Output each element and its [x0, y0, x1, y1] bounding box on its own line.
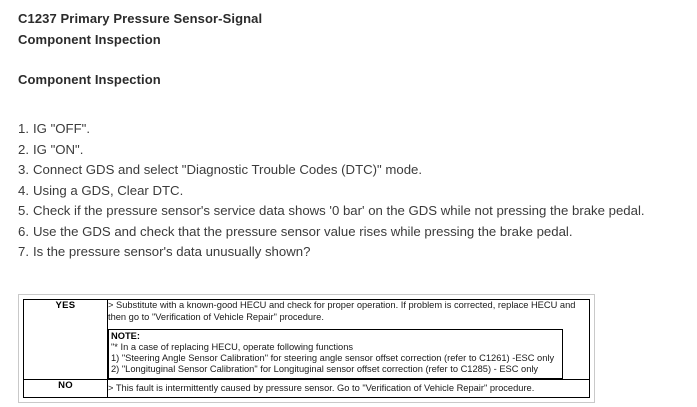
list-item-number: 4.	[18, 181, 33, 202]
list-item-number: 5.	[18, 201, 33, 222]
verdict-cell-no: NO	[24, 379, 108, 397]
list-item: 1.IG "OFF".	[0, 119, 697, 140]
action-line: > Substitute with a known-good HECU and …	[108, 300, 589, 312]
list-item-number: 2.	[18, 140, 33, 161]
action-line: then go to "Verification of Vehicle Repa…	[108, 312, 589, 324]
list-item-text: Connect GDS and select "Diagnostic Troub…	[33, 162, 422, 177]
list-item: 3.Connect GDS and select "Diagnostic Tro…	[0, 160, 697, 181]
list-item: 5.Check if the pressure sensor's service…	[0, 201, 697, 222]
list-item-text: Use the GDS and check that the pressure …	[33, 224, 573, 239]
verdict-cell-yes: YES	[24, 300, 108, 380]
list-item-text: Check if the pressure sensor's service d…	[33, 203, 645, 218]
list-item: 2.IG "ON".	[0, 140, 697, 161]
note-line: 2) "Longituginal Sensor Calibration" for…	[111, 364, 560, 375]
list-item: 6.Use the GDS and check that the pressur…	[0, 222, 697, 243]
list-item-number: 3.	[18, 160, 33, 181]
page-title-line-2: Component Inspection	[18, 29, 697, 50]
action-cell-yes: > Substitute with a known-good HECU and …	[108, 300, 590, 380]
list-item-number: 1.	[18, 119, 33, 140]
action-cell-no: > This fault is intermittently caused by…	[108, 379, 590, 397]
list-item-number: 6.	[18, 222, 33, 243]
document-body: C1237 Primary Pressure Sensor-Signal Com…	[0, 0, 697, 263]
section-heading: Component Inspection	[18, 69, 697, 90]
list-item-text: IG "ON".	[33, 142, 83, 157]
table-row: YES > Substitute with a known-good HECU …	[24, 300, 590, 380]
document-header: C1237 Primary Pressure Sensor-Signal Com…	[0, 0, 697, 90]
list-item-text: Using a GDS, Clear DTC.	[33, 183, 183, 198]
note-title: NOTE:	[111, 331, 560, 342]
decision-table-frame: YES > Substitute with a known-good HECU …	[18, 294, 595, 403]
list-item: 4.Using a GDS, Clear DTC.	[0, 181, 697, 202]
list-item-number: 7.	[18, 242, 33, 263]
inspection-steps-list: 1.IG "OFF". 2.IG "ON". 3.Connect GDS and…	[0, 90, 697, 263]
list-item-text: Is the pressure sensor's data unusually …	[33, 244, 310, 259]
table-row: NO > This fault is intermittently caused…	[24, 379, 590, 397]
note-line: "* In a case of replacing HECU, operate …	[111, 342, 560, 353]
note-box: NOTE: "* In a case of replacing HECU, op…	[108, 329, 563, 379]
page-title-line-1: C1237 Primary Pressure Sensor-Signal	[18, 8, 697, 29]
list-item-text: IG "OFF".	[33, 121, 90, 136]
action-line: > This fault is intermittently caused by…	[108, 382, 589, 394]
decision-table: YES > Substitute with a known-good HECU …	[23, 299, 590, 398]
note-line: 1) "Steering Angle Sensor Calibration" f…	[111, 353, 560, 364]
list-item: 7.Is the pressure sensor's data unusuall…	[0, 242, 697, 263]
